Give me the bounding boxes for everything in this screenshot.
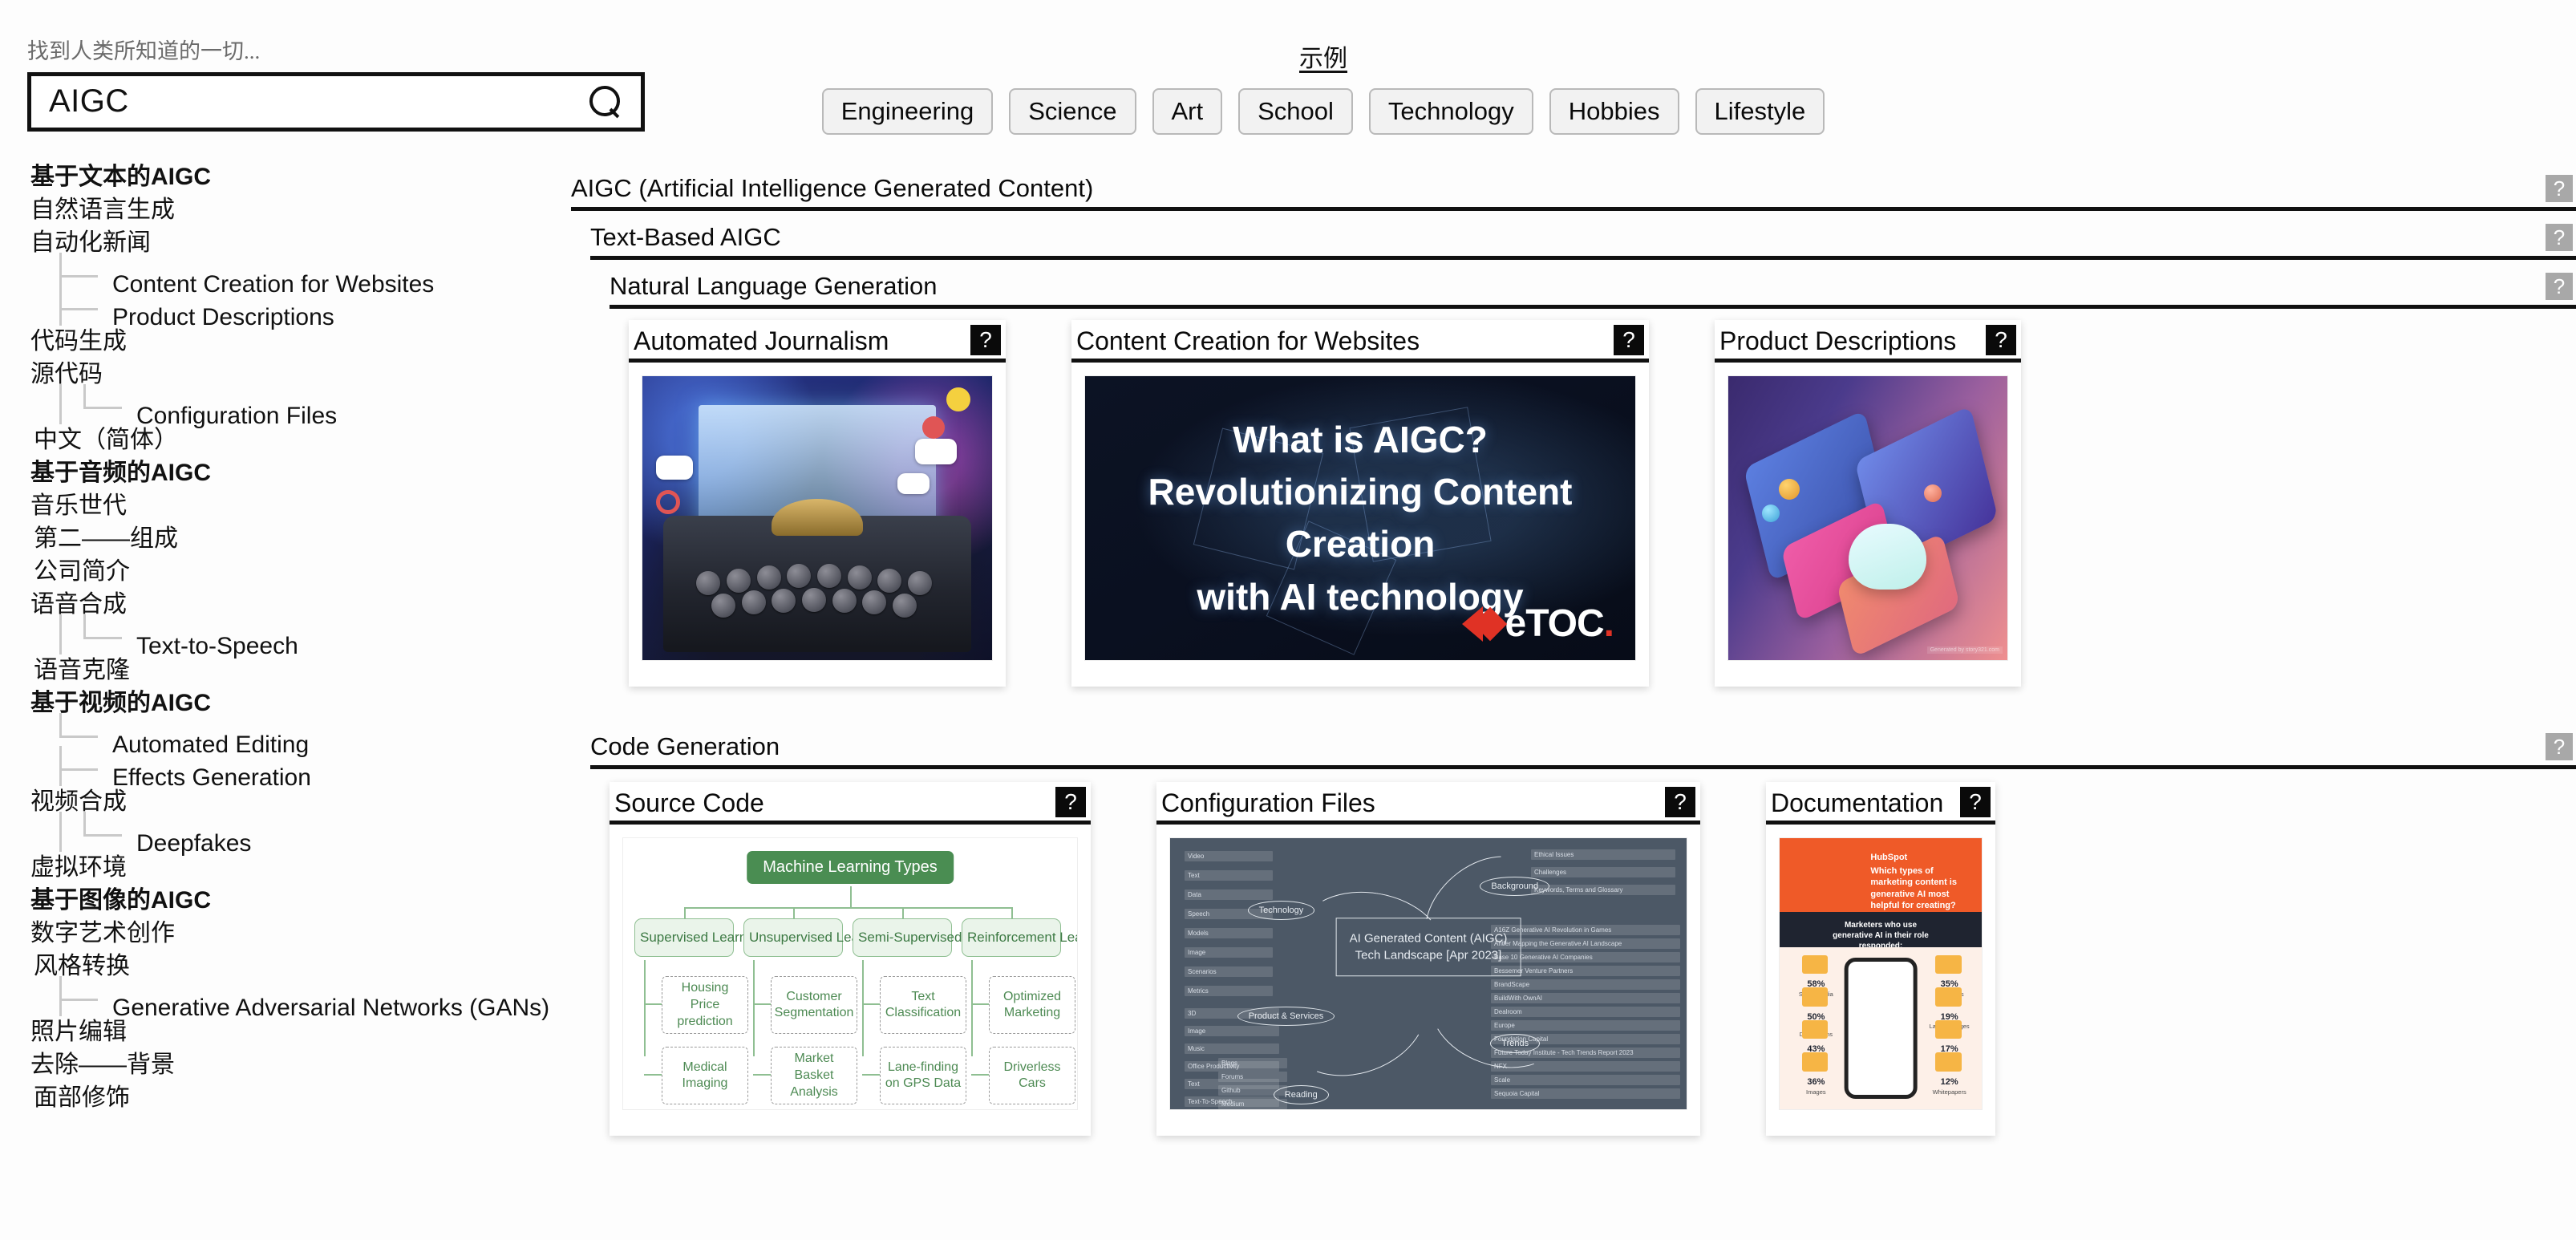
infographic-headline: Which types of marketing content is gene… <box>1870 865 1975 911</box>
machine-learning-types-diagram: Machine Learning TypesSupervised Learnin… <box>623 838 1077 1109</box>
ml-leaf-node: Customer Segmentation <box>771 976 857 1034</box>
card-automated-journalism[interactable]: Automated Journalism ? <box>629 320 1006 687</box>
ml-leaf-node: Driverless Cars <box>989 1047 1075 1104</box>
sidebar-item[interactable]: 风格转换 <box>30 950 571 983</box>
infographic-stat: 36%Images <box>1796 1077 1836 1096</box>
card-header: Automated Journalism ? <box>629 320 1006 363</box>
sidebar-item[interactable]: 第二——组成 <box>30 522 571 555</box>
ml-category-node: Unsupervised Learning <box>743 918 843 957</box>
help-badge-icon[interactable]: ? <box>2546 273 2573 300</box>
card-title: Content Creation for Websites <box>1076 327 1602 355</box>
sidebar-item[interactable]: Effects Generation <box>30 752 571 785</box>
infographic-stat-icon <box>1802 987 1829 1007</box>
heart-icon <box>656 490 680 514</box>
sidebar-item[interactable]: Product Descriptions <box>30 292 571 325</box>
sidebar-item-label: 基于图像的AIGC <box>30 884 211 917</box>
sidebar-item[interactable]: 自动化新闻 <box>30 226 571 259</box>
sidebar-item-label: 源代码 <box>30 358 103 391</box>
mindmap-background-label: Keywords, Terms and Glossary <box>1534 886 1623 894</box>
card-row-nlg: Automated Journalism ? <box>629 320 2576 711</box>
chat-bubble-icon <box>656 456 693 480</box>
mindmap-technology-label: Text <box>1188 872 1200 879</box>
emoji-icon <box>922 416 945 439</box>
aigc-tech-landscape-mindmap: AI Generated Content (AIGC) Tech Landsca… <box>1170 838 1687 1109</box>
mindmap-trends-label: Base 10 Generative AI Companies <box>1494 954 1593 961</box>
section-title-nlg: Natural Language Generation <box>610 273 2546 300</box>
sidebar-item[interactable]: Content Creation for Websites <box>30 259 571 292</box>
sidebar-item-label: 虚拟环境 <box>30 851 127 884</box>
sidebar-item[interactable]: 基于文本的AIGC <box>30 160 571 193</box>
sidebar-item[interactable]: 照片编辑 <box>30 1015 571 1048</box>
card-documentation[interactable]: Documentation ? HubSpot Which types of m… <box>1766 782 1995 1136</box>
section-code-generation: Code Generation ? Source Code ? <box>590 733 2576 1160</box>
sidebar-item-label: 照片编辑 <box>30 1015 127 1048</box>
chat-bubble-icon <box>897 473 930 494</box>
infographic-stat-label: Whitepapers <box>1929 1088 1969 1096</box>
sidebar-item[interactable]: 中文（简体） <box>30 423 571 456</box>
example-button-technology[interactable]: Technology <box>1369 88 1533 135</box>
help-badge-icon[interactable]: ? <box>1960 787 1991 817</box>
sidebar-item-label: 自动化新闻 <box>30 226 151 259</box>
example-button-art[interactable]: Art <box>1152 88 1223 135</box>
sidebar-item[interactable]: 基于图像的AIGC <box>30 884 571 917</box>
connector-line <box>862 960 864 1056</box>
sidebar-item-label: 基于音频的AIGC <box>30 456 211 489</box>
ml-leaf-node: Market Basket Analysis <box>771 1047 857 1104</box>
ml-category-node: Supervised Learning <box>634 918 734 957</box>
sidebar-item-label: 数字艺术创作 <box>30 917 175 950</box>
search-box[interactable]: AIGC <box>27 72 645 132</box>
mindmap-background-label: Challenges <box>1534 869 1566 876</box>
typewriter-keys <box>691 558 943 632</box>
card-header: Configuration Files ? <box>1156 782 1700 825</box>
etoc-wordmark: eTOC <box>1505 602 1604 646</box>
sidebar-item[interactable]: 语音合成 <box>30 588 571 621</box>
mindmap-technology-label: Image <box>1188 949 1205 956</box>
mindmap-technology-label: Speech <box>1188 910 1209 918</box>
generative-ai-marketing-infographic: HubSpot Which types of marketing content… <box>1780 838 1982 1109</box>
sidebar-tree: 基于文本的AIGC自然语言生成自动化新闻Content Creation for… <box>0 160 571 1240</box>
examples-title: 示例 <box>818 38 1829 74</box>
sidebar-item[interactable]: 公司简介 <box>30 555 571 588</box>
connector-line <box>971 1003 989 1005</box>
section-title-text-based-aigc: Text-Based AIGC <box>590 224 2546 251</box>
video-caption-line1: What is AIGC? <box>1100 414 1621 466</box>
sidebar-item-label: 语音克隆 <box>34 654 130 687</box>
body-area: 基于文本的AIGC自然语言生成自动化新闻Content Creation for… <box>0 160 2576 1240</box>
ml-leaf-node: Text Classification <box>880 976 966 1034</box>
connector-line <box>1011 907 1013 918</box>
search-input[interactable]: AIGC <box>49 83 586 120</box>
infographic-stat-value: 36% <box>1807 1077 1825 1087</box>
example-button-lifestyle[interactable]: Lifestyle <box>1695 88 1825 135</box>
sidebar-item-label: 面部修饰 <box>34 1081 130 1114</box>
sidebar-item-label: 去除——背景 <box>30 1048 175 1081</box>
video-caption: What is AIGC? Revolutionizing Content Cr… <box>1085 414 1635 623</box>
video-caption-line2: Revolutionizing Content Creation <box>1100 466 1621 571</box>
card-content-creation-for-websites[interactable]: Content Creation for Websites ? <box>1071 320 1649 687</box>
section-title-aigc-root: AIGC (Artificial Intelligence Generated … <box>571 175 2546 202</box>
card-title: Product Descriptions <box>1719 327 1975 355</box>
help-badge-icon[interactable]: ? <box>1055 787 1086 817</box>
sphere-icon <box>1924 484 1942 502</box>
mindmap-product-label: Image <box>1188 1027 1205 1035</box>
help-badge-icon[interactable]: ? <box>2546 733 2573 760</box>
sidebar-item[interactable]: 视频合成 <box>30 785 571 818</box>
ml-leaf-node: Medical Imaging <box>662 1047 748 1104</box>
sidebar-item[interactable]: Deepfakes <box>30 818 571 851</box>
connector-line <box>850 886 852 907</box>
connector-line <box>644 1003 662 1005</box>
mindmap-reading-label: Blogs <box>1221 1060 1237 1067</box>
help-badge-icon[interactable]: ? <box>2546 175 2573 202</box>
infographic-stat: 12%Whitepapers <box>1929 1077 1969 1096</box>
sidebar-item[interactable]: 语音克隆 <box>30 654 571 687</box>
ml-category-node: Reinforcement Learning <box>962 918 1061 957</box>
connector-line <box>753 1074 771 1076</box>
cloud-icon <box>1849 524 1926 589</box>
sidebar-item[interactable]: 面部修饰 <box>30 1081 571 1114</box>
connector-line <box>684 907 686 918</box>
connector-line <box>793 907 795 918</box>
typewriter-platen <box>772 499 862 536</box>
card-row-code-generation: Source Code ? Machine Learning TypesSupe… <box>610 782 2576 1160</box>
card-title: Configuration Files <box>1161 789 1654 817</box>
mindmap-trends-label: Sequoia Capital <box>1494 1090 1539 1097</box>
content-area: AIGC (Artificial Intelligence Generated … <box>571 160 2576 1240</box>
sidebar-item[interactable]: 去除——背景 <box>30 1048 571 1081</box>
infographic-stat-icon <box>1935 987 1962 1007</box>
sphere-icon <box>1779 479 1800 500</box>
card-media-infographic: HubSpot Which types of marketing content… <box>1779 837 1983 1110</box>
ml-leaf-node: Lane-finding on GPS Data <box>880 1047 966 1104</box>
section-header-text-based-aigc: Text-Based AIGC ? <box>590 224 2576 260</box>
card-media-mindmap: AI Generated Content (AIGC) Tech Landsca… <box>1169 837 1687 1110</box>
connector-line <box>862 1074 880 1076</box>
sphere-icon <box>1762 505 1780 522</box>
sidebar-item-label: 中文（简体） <box>34 423 178 456</box>
help-badge-icon[interactable]: ? <box>2546 224 2573 251</box>
connector-line <box>971 1074 989 1076</box>
tree-branch-elbow-icon <box>59 719 112 752</box>
sidebar-item[interactable]: 基于音频的AIGC <box>30 456 571 489</box>
connector-line <box>902 907 904 918</box>
connector-line <box>684 907 1011 909</box>
etoc-dot: . <box>1604 602 1614 646</box>
card-media-product-illustration: Generated by story321.com <box>1727 375 2008 661</box>
section-header-code-generation: Code Generation ? <box>590 733 2576 769</box>
mindmap-technology-label: Metrics <box>1188 987 1209 995</box>
sidebar-item[interactable]: 源代码 <box>30 358 571 391</box>
sidebar-item-label: 视频合成 <box>30 785 127 818</box>
help-badge-icon[interactable]: ? <box>1614 325 1644 355</box>
tree-branch-tee-icon <box>59 292 112 325</box>
search-tagline: 找到人类所知道的一切... <box>27 40 645 64</box>
aigc-video-thumbnail: What is AIGC? Revolutionizing Content Cr… <box>1085 376 1635 660</box>
etoc-logo: eTOC . <box>1462 602 1615 646</box>
tree-branch-tee-icon <box>59 983 112 1015</box>
help-badge-icon[interactable]: ? <box>970 325 1001 355</box>
mindmap-reading-label: Forums <box>1221 1073 1243 1080</box>
card-media-ml-diagram: Machine Learning TypesSupervised Learnin… <box>622 837 1078 1110</box>
connector-line <box>862 1003 880 1005</box>
card-header: Source Code ? <box>610 782 1091 825</box>
sidebar-item-label: 自然语言生成 <box>30 193 175 226</box>
mindmap-technology-label: Models <box>1188 930 1209 937</box>
ml-leaf-node: Housing Price prediction <box>662 976 748 1034</box>
connector-line <box>753 960 755 1056</box>
connector-line <box>971 960 973 1056</box>
card-header: Product Descriptions ? <box>1715 320 2021 363</box>
spacer <box>590 711 2576 733</box>
infographic-stat-icon <box>1802 1020 1829 1039</box>
mindmap-trends-label: Scale <box>1494 1076 1510 1084</box>
connector-line <box>753 1003 771 1005</box>
tree-branch-tee-icon <box>59 752 112 785</box>
card-title: Automated Journalism <box>634 327 959 355</box>
typewriter-illustration <box>642 376 992 660</box>
card-source-code[interactable]: Source Code ? Machine Learning TypesSupe… <box>610 782 1091 1136</box>
card-product-descriptions[interactable]: Product Descriptions ? <box>1715 320 2021 687</box>
mindmap-trends-bar <box>1491 1075 1680 1085</box>
infographic-stat-icon <box>1802 1052 1829 1072</box>
sidebar-item[interactable]: Generative Adversarial Networks (GANs) <box>30 983 571 1015</box>
card-title: Source Code <box>614 789 1044 817</box>
infographic-brand: HubSpot <box>1870 852 1975 863</box>
sidebar-item-label: 风格转换 <box>34 950 130 983</box>
card-media-video-thumbnail: What is AIGC? Revolutionizing Content Cr… <box>1084 375 1636 661</box>
example-button-hobbies[interactable]: Hobbies <box>1549 88 1679 135</box>
infographic-stat-icon <box>1935 1020 1962 1039</box>
watermark: Generated by story321.com <box>1927 646 2003 654</box>
examples-area: 示例 Engineering Science Art School Techno… <box>818 38 1829 135</box>
section-text-based-aigc: Text-Based AIGC ? Natural Language Gener… <box>590 224 2576 711</box>
help-badge-icon[interactable]: ? <box>1986 325 2016 355</box>
card-header: Content Creation for Websites ? <box>1071 320 1649 363</box>
sidebar-item[interactable]: 基于视频的AIGC <box>30 687 571 719</box>
sidebar-item[interactable]: Automated Editing <box>30 719 571 752</box>
mindmap-product-bar <box>1185 1008 1279 1019</box>
sidebar-item-label: 基于视频的AIGC <box>30 687 211 719</box>
infographic-stat-icon <box>1935 1052 1962 1072</box>
tree-branch-nested-icon <box>59 818 136 851</box>
mindmap-product-label: Text <box>1188 1080 1200 1088</box>
mindmap-reading-label: Github <box>1221 1087 1241 1094</box>
isometric-product-illustration: Generated by story321.com <box>1728 376 2007 660</box>
card-configuration-files[interactable]: Configuration Files ? AI Generated Conte… <box>1156 782 1700 1136</box>
sidebar-item-label: 第二——组成 <box>34 522 178 555</box>
sidebar-item[interactable]: 代码生成 <box>30 325 571 358</box>
search-icon[interactable] <box>586 83 623 120</box>
top-bar: 找到人类所知道的一切... AIGC 示例 Engineering Scienc… <box>0 0 2576 160</box>
example-button-engineering[interactable]: Engineering <box>822 88 993 135</box>
chat-bubble-icon <box>915 439 957 464</box>
section-aigc-root: AIGC (Artificial Intelligence Generated … <box>571 175 2576 1160</box>
sidebar-item[interactable]: 虚拟环境 <box>30 851 571 884</box>
infographic-stat-label: Images <box>1796 1088 1836 1096</box>
sidebar-item-label: 公司简介 <box>34 555 130 588</box>
ml-leaf-node: Optimized Marketing <box>989 976 1075 1034</box>
infographic-stat-icon <box>1935 955 1962 975</box>
phone-illustration <box>1845 958 1918 1099</box>
sidebar-item-label: 基于文本的AIGC <box>30 160 211 193</box>
example-button-science[interactable]: Science <box>1009 88 1136 135</box>
mindmap-trends-label: Antler Mapping the Generative AI Landsca… <box>1494 940 1622 947</box>
tree-branch-tee-icon <box>59 259 112 292</box>
tree-branch-nested-icon <box>59 621 136 654</box>
mindmap-technology-label: Data <box>1188 891 1201 898</box>
sidebar-item-label: 代码生成 <box>30 325 127 358</box>
sidebar-item[interactable]: Configuration Files <box>30 391 571 423</box>
sidebar-item[interactable]: Text-to-Speech <box>30 621 571 654</box>
emoji-icon <box>946 387 970 411</box>
mindmap-technology-label: Scenarios <box>1188 968 1217 975</box>
tree-branch-nested-icon <box>59 391 136 423</box>
ml-root-node: Machine Learning Types <box>747 851 954 884</box>
connector-line <box>644 960 646 1056</box>
sidebar-item[interactable]: 数字艺术创作 <box>30 917 571 950</box>
mindmap-technology-label: Video <box>1188 853 1204 860</box>
sidebar-item[interactable]: 音乐世代 <box>30 489 571 522</box>
card-title: Documentation <box>1771 789 1949 817</box>
example-buttons: Engineering Science Art School Technolog… <box>818 88 1829 135</box>
infographic-stat-value: 12% <box>1941 1077 1958 1087</box>
sidebar-item[interactable]: 自然语言生成 <box>30 193 571 226</box>
section-title-code-generation: Code Generation <box>590 733 2546 760</box>
sidebar-item-label: 语音合成 <box>30 588 127 621</box>
search-area: 找到人类所知道的一切... AIGC <box>27 40 645 132</box>
section-header-nlg: Natural Language Generation ? <box>610 273 2576 309</box>
section-natural-language-generation: Natural Language Generation ? Automated … <box>610 273 2576 711</box>
mindmap-product-label: Music <box>1188 1045 1205 1052</box>
sidebar-item-label: 音乐世代 <box>30 489 127 522</box>
connector-line <box>644 1074 662 1076</box>
infographic-stat-icon <box>1802 955 1829 975</box>
mindmap-reading-label: Medium <box>1221 1100 1244 1108</box>
example-button-school[interactable]: School <box>1238 88 1353 135</box>
mindmap-product-label: 3D <box>1188 1010 1196 1017</box>
card-header: Documentation ? <box>1766 782 1995 825</box>
help-badge-icon[interactable]: ? <box>1665 787 1695 817</box>
ml-category-node: Semi-Supervised Learning <box>853 918 952 957</box>
card-media-typewriter <box>642 375 993 661</box>
mindmap-background-label: Ethical Issues <box>1534 851 1574 858</box>
section-header-aigc-root: AIGC (Artificial Intelligence Generated … <box>571 175 2576 211</box>
